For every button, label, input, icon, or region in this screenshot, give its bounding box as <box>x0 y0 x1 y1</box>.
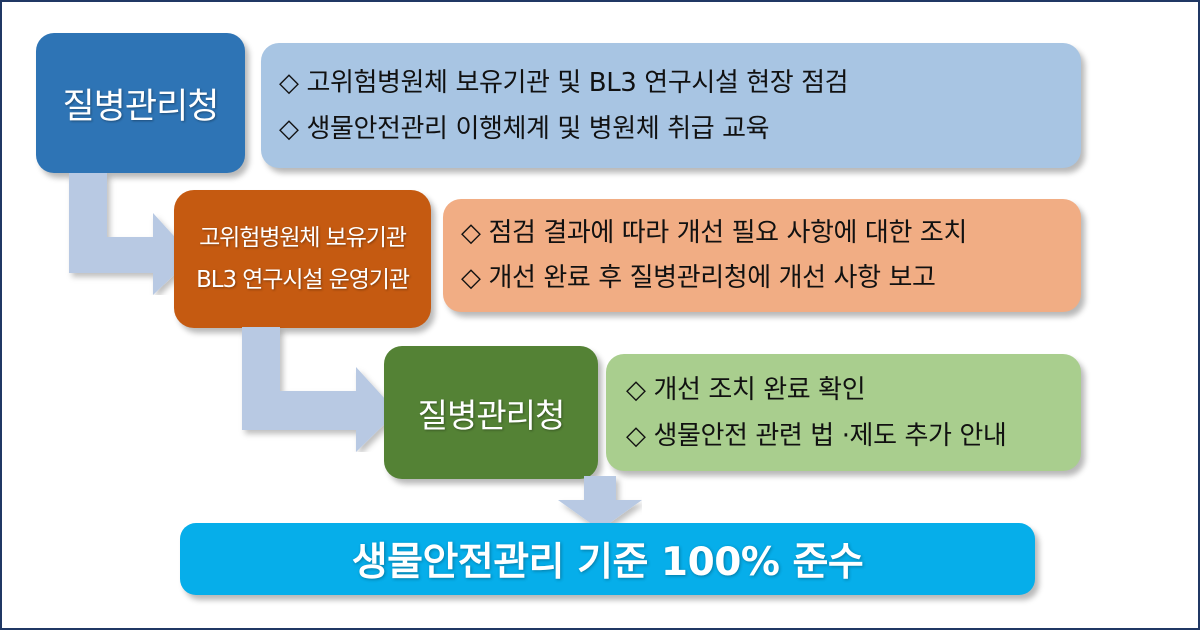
duty-line: ◇ 생물안전관리 이행체계 및 병원체 취급 교육 <box>279 106 1081 152</box>
duty-line: ◇ 점검 결과에 따라 개선 필요 사항에 대한 조치 <box>461 211 1081 256</box>
panel-kdca-verification-duties: ◇ 개선 조치 완료 확인 ◇ 생물안전 관련 법 ·제도 추가 안내 <box>606 354 1081 471</box>
node-agency-kdca-inspection[interactable]: 질병관리청 <box>36 33 245 173</box>
duty-line: ◇ 생물안전 관련 법 ·제도 추가 안내 <box>626 413 1081 459</box>
panel-institution-duties: ◇ 점검 결과에 따라 개선 필요 사항에 대한 조치 ◇ 개선 완료 후 질병… <box>443 199 1081 312</box>
goal-banner-label: 생물안전관리 기준 100% 준수 <box>352 531 864 587</box>
goal-banner: 생물안전관리 기준 100% 준수 <box>180 523 1035 595</box>
duty-line: ◇ 개선 조치 완료 확인 <box>626 367 1081 413</box>
panel-kdca-inspection-duties: ◇ 고위험병원체 보유기관 및 BL3 연구시설 현장 점검 ◇ 생물안전관리 … <box>261 43 1081 168</box>
node-institution-operator[interactable]: 고위험병원체 보유기관 BL3 연구시설 운영기관 <box>174 190 431 328</box>
node-label: BL3 연구시설 운영기관 <box>196 259 409 301</box>
node-label: 고위험병원체 보유기관 <box>199 217 406 259</box>
node-label: 질병관리청 <box>418 389 565 437</box>
duty-line: ◇ 개선 완료 후 질병관리청에 개선 사항 보고 <box>461 256 1081 301</box>
elbow-arrow-down-right-2-icon <box>230 327 397 452</box>
arrow-down-icon <box>558 476 642 530</box>
diagram-canvas: 질병관리청 ◇ 고위험병원체 보유기관 및 BL3 연구시설 현장 점검 ◇ 생… <box>0 0 1200 630</box>
node-label: 질병관리청 <box>62 78 218 129</box>
duty-line: ◇ 고위험병원체 보유기관 및 BL3 연구시설 현장 점검 <box>279 60 1081 106</box>
node-agency-kdca-verification[interactable]: 질병관리청 <box>384 346 598 479</box>
elbow-arrow-down-right-1-icon <box>57 173 193 295</box>
